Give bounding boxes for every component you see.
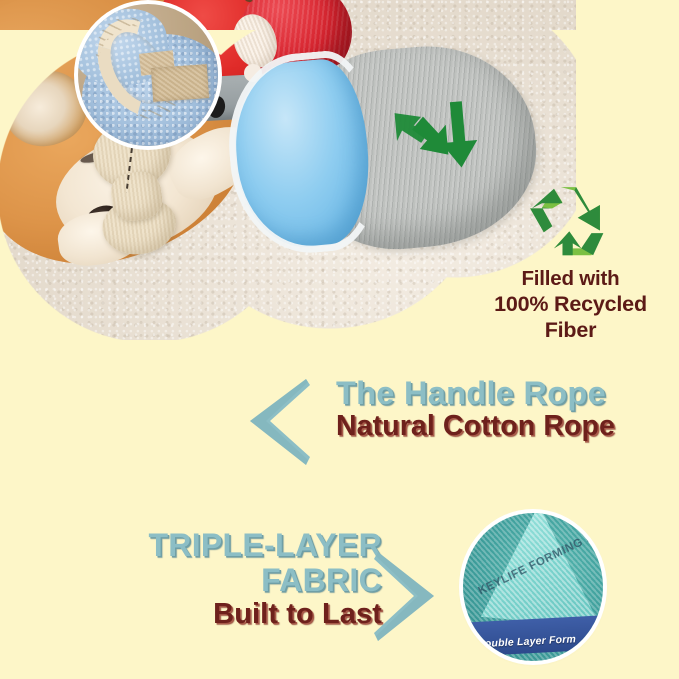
chevron-right-icon: [374, 548, 436, 644]
chevron-left-icon: [248, 375, 310, 467]
infographic-page: Filled with 100% Recycled Fiber The Hand…: [0, 0, 679, 679]
recycle-icon: [528, 182, 614, 262]
badge-line-2: 100% Recycled Fiber: [468, 291, 673, 343]
fabric-heading-line-2: FABRIC: [56, 563, 382, 598]
fabric-label-patch: [151, 64, 209, 102]
handle-rope-text-block: The Handle Rope Natural Cotton Rope: [336, 376, 672, 443]
pouch-printed-recycle-arrows-icon: [392, 93, 496, 193]
recycled-fiber-badge: Filled with 100% Recycled Fiber: [468, 182, 673, 343]
triple-layer-fabric-closeup-photo: KEYLIFE FORMING FABR Double Layer Form: [463, 513, 603, 661]
fabric-heading-line-1: TRIPLE-LAYER: [56, 528, 382, 563]
handle-rope-heading: The Handle Rope: [336, 376, 672, 411]
cotton-rope-handle-closeup-photo: [78, 4, 218, 146]
fabric-subheading: Built to Last: [56, 598, 382, 630]
badge-line-1: Filled with: [468, 266, 673, 291]
handle-rope-subheading: Natural Cotton Rope: [336, 411, 672, 443]
fabric-text-block: TRIPLE-LAYER FABRIC Built to Last: [56, 528, 382, 631]
